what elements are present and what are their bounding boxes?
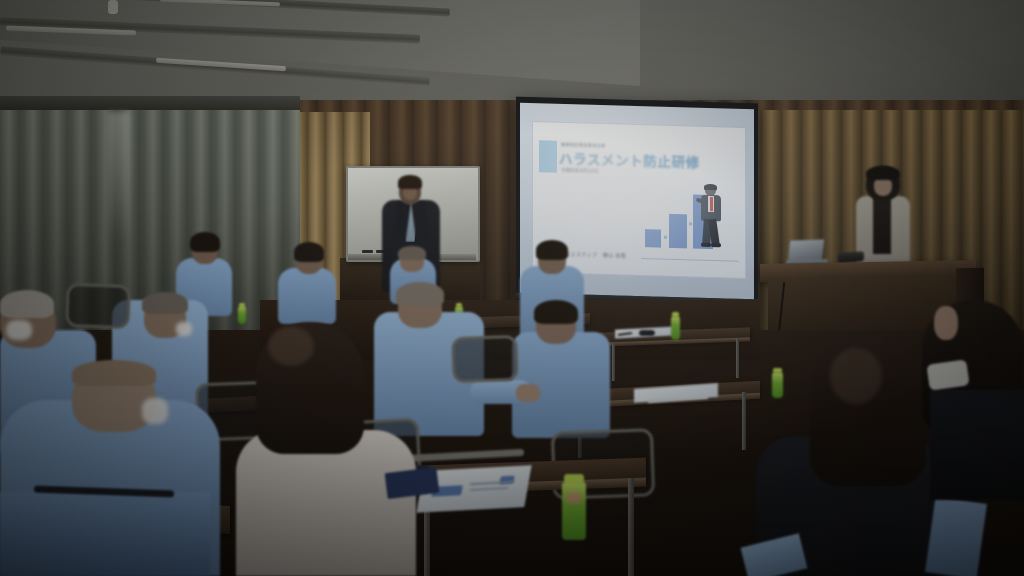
ceiling-fixture-stub bbox=[108, 0, 118, 14]
green-tea-bottle bbox=[671, 316, 680, 340]
green-tea-bottle bbox=[562, 482, 586, 540]
table-leg bbox=[742, 392, 746, 450]
marker-icon bbox=[362, 250, 373, 253]
attendee-hair bbox=[190, 232, 220, 252]
attendee-hair bbox=[294, 242, 324, 262]
green-tea-bottle bbox=[772, 372, 783, 398]
slide-accent-bar bbox=[539, 140, 557, 173]
eyeglasses-icon bbox=[639, 330, 655, 336]
facilitator-inner-top bbox=[873, 196, 891, 254]
attendee-collar bbox=[926, 359, 969, 390]
slide-bar-dot bbox=[664, 236, 667, 239]
bottle-cap bbox=[672, 312, 679, 317]
curtain-highlight bbox=[108, 112, 130, 242]
attendee-hair bbox=[534, 300, 578, 324]
slide-date: 令和6年4月10日 bbox=[561, 167, 599, 175]
slide-bar-dot bbox=[689, 222, 692, 225]
slide-bar-2 bbox=[669, 214, 687, 249]
attendee-dark-jacket bbox=[930, 390, 1024, 500]
table-leg bbox=[612, 343, 615, 381]
meeting-room-photo: 箱根地区建設業協会様 ハラスメント防止研修 令和6年4月10日 株式会社エスティ… bbox=[0, 0, 1024, 576]
face-mask bbox=[142, 398, 168, 424]
attendee-hair bbox=[142, 292, 188, 314]
attendee-trousers bbox=[0, 492, 210, 576]
presenter-hair bbox=[398, 175, 422, 189]
curtain-rail bbox=[0, 96, 300, 110]
attendee-face bbox=[934, 306, 958, 340]
face-mask bbox=[6, 320, 32, 340]
slide-person-tie bbox=[710, 197, 713, 211]
slide-person-hair bbox=[704, 184, 717, 190]
table-leg bbox=[628, 478, 634, 576]
slide-illustration bbox=[645, 183, 739, 262]
attendee-hair bbox=[536, 240, 568, 260]
slide-person-shoe-right bbox=[711, 243, 721, 247]
slide-person-shoe-left bbox=[701, 243, 711, 247]
chair-backrest bbox=[451, 335, 519, 383]
attendee-light-sleeve bbox=[925, 497, 987, 576]
attendee-hair bbox=[0, 290, 54, 318]
bottle-label-flower bbox=[566, 492, 582, 504]
slide-bar-1 bbox=[645, 229, 661, 247]
bottle-cap bbox=[239, 303, 245, 307]
face-mask bbox=[176, 322, 192, 336]
green-tea-bottle bbox=[238, 306, 246, 324]
bottle-cap bbox=[773, 368, 782, 373]
attendee-hand bbox=[516, 384, 540, 402]
bottle-cap bbox=[564, 474, 584, 484]
bottle-cap bbox=[456, 303, 462, 307]
attendee-scalp bbox=[72, 360, 156, 386]
attendee-hair bbox=[398, 246, 426, 260]
hair-highlight bbox=[268, 326, 314, 366]
facilitator-fringe bbox=[866, 166, 900, 180]
attendee-hair bbox=[396, 282, 444, 306]
table-leg bbox=[736, 338, 739, 378]
hair-highlight bbox=[830, 348, 882, 404]
attendee-body bbox=[278, 268, 336, 324]
chair-backrest bbox=[65, 283, 130, 329]
microphone-icon bbox=[838, 251, 864, 262]
